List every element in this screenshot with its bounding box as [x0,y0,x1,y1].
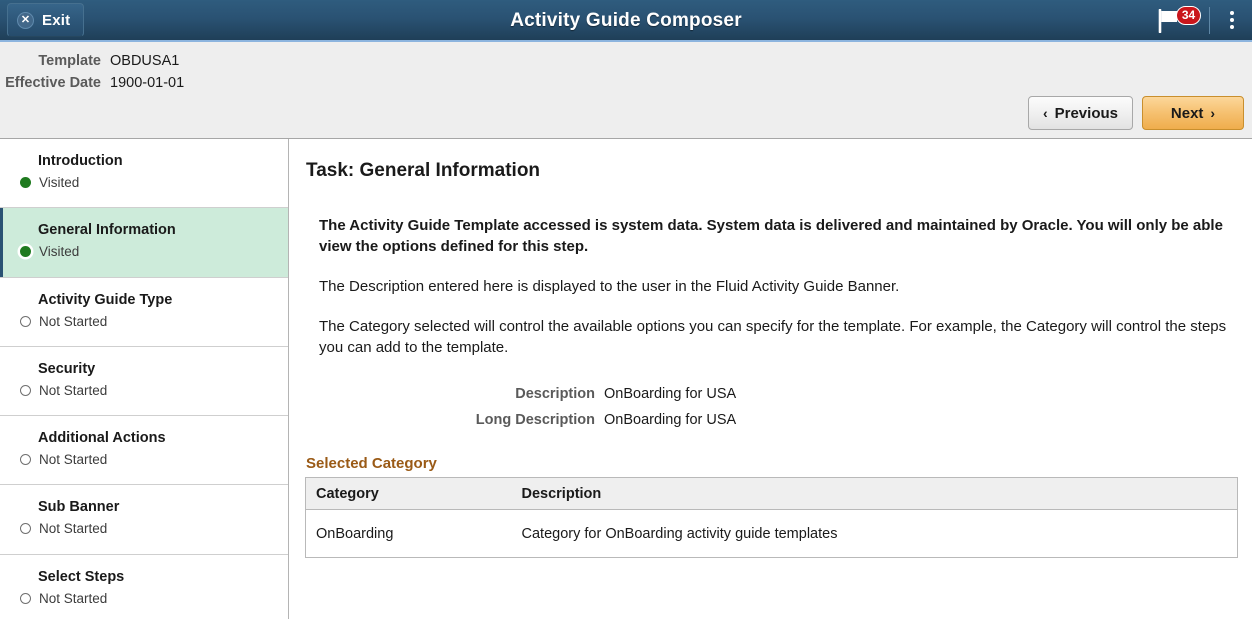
long-description-value: OnBoarding for USA [604,412,736,428]
header-actions: 34 [1155,0,1252,41]
next-button[interactable]: Next › [1142,96,1244,130]
sidebar-item-general-information[interactable]: General InformationVisited [0,208,288,277]
template-subheader: Template OBDUSA1 Effective Date 1900-01-… [0,42,1252,139]
task-heading: Task: General Information [306,160,1236,182]
description-field-row: Description OnBoarding for USA [305,386,1236,412]
close-x-icon: ✕ [17,12,34,29]
column-header-description: Description [512,478,1238,510]
description-paragraph: The Description entered here is displaye… [319,276,1229,297]
sidebar-item-status-label: Not Started [39,591,107,606]
selected-category-heading: Selected Category [306,455,1236,472]
next-button-label: Next [1171,105,1204,122]
app-header: ✕ Exit Activity Guide Composer 34 [0,0,1252,42]
main-content: Task: General Information The Activity G… [289,139,1252,619]
selected-category-table: Category Description OnBoardingCategory … [305,477,1238,558]
sidebar-item-label: General Information [38,221,278,239]
chevron-right-icon: › [1210,106,1215,120]
header-divider [1209,7,1210,34]
long-description-label: Long Description [305,412,604,428]
sidebar-item-status: Not Started [20,452,278,467]
sidebar-item-sub-banner[interactable]: Sub BannerNot Started [0,485,288,554]
notification-badge: 34 [1176,6,1201,25]
sidebar-item-label: Introduction [38,152,278,170]
sidebar-item-status-label: Not Started [39,521,107,536]
table-header-row: Category Description [306,478,1238,510]
sidebar-item-status-label: Not Started [39,452,107,467]
sidebar-item-status: Not Started [20,591,278,606]
sidebar-item-label: Additional Actions [38,429,278,447]
chevron-left-icon: ‹ [1043,106,1048,120]
status-not-started-icon [20,523,31,534]
exit-button-label: Exit [42,12,70,29]
wizard-navigation: ‹ Previous Next › [1028,96,1244,130]
step-sidebar: IntroductionVisitedGeneral InformationVi… [0,139,289,619]
template-fields: Template OBDUSA1 Effective Date 1900-01-… [0,42,1252,97]
sidebar-item-status: Visited [20,244,278,259]
status-not-started-icon [20,454,31,465]
column-header-category: Category [306,478,512,510]
kebab-menu-icon[interactable] [1221,5,1243,35]
page-title: Activity Guide Composer [0,0,1252,42]
sidebar-item-activity-guide-type[interactable]: Activity Guide TypeNot Started [0,278,288,347]
long-description-field-row: Long Description OnBoarding for USA [305,412,1236,438]
status-not-started-icon [20,385,31,396]
sidebar-item-introduction[interactable]: IntroductionVisited [0,139,288,208]
sidebar-item-status-label: Visited [39,244,79,259]
effective-date-field-row: Effective Date 1900-01-01 [0,75,1252,97]
intro-paragraph-bold: The Activity Guide Template accessed is … [319,215,1229,257]
cell-description: Category for OnBoarding activity guide t… [512,510,1238,558]
sidebar-item-status-label: Not Started [39,314,107,329]
status-visited-icon [20,177,31,188]
activity-guide-composer-page: ✕ Exit Activity Guide Composer 34 Templa… [0,0,1252,619]
description-value: OnBoarding for USA [604,386,736,402]
sidebar-item-label: Activity Guide Type [38,291,278,309]
status-not-started-icon [20,316,31,327]
sidebar-item-status: Not Started [20,383,278,398]
exit-button[interactable]: ✕ Exit [7,3,84,37]
sidebar-item-status-label: Not Started [39,383,107,398]
table-row[interactable]: OnBoardingCategory for OnBoarding activi… [306,510,1238,558]
sidebar-item-status: Not Started [20,314,278,329]
previous-button[interactable]: ‹ Previous [1028,96,1133,130]
description-fields: Description OnBoarding for USA Long Desc… [305,386,1236,438]
sidebar-item-select-steps[interactable]: Select StepsNot Started [0,555,288,619]
sidebar-item-status: Not Started [20,521,278,536]
sidebar-item-security[interactable]: SecurityNot Started [0,347,288,416]
cell-category: OnBoarding [306,510,512,558]
sidebar-item-additional-actions[interactable]: Additional ActionsNot Started [0,416,288,485]
notifications-button[interactable]: 34 [1155,5,1201,35]
template-field-row: Template OBDUSA1 [0,53,1252,75]
template-value: OBDUSA1 [110,53,179,69]
sidebar-item-label: Select Steps [38,568,278,586]
template-label: Template [0,53,110,69]
description-label: Description [305,386,604,402]
sidebar-item-status-label: Visited [39,175,79,190]
effective-date-label: Effective Date [0,75,110,91]
previous-button-label: Previous [1055,105,1118,122]
sidebar-item-label: Sub Banner [38,498,278,516]
status-visited-icon [20,246,31,257]
page-body: IntroductionVisitedGeneral InformationVi… [0,139,1252,619]
sidebar-item-label: Security [38,360,278,378]
category-paragraph: The Category selected will control the a… [319,316,1229,358]
sidebar-item-status: Visited [20,175,278,190]
effective-date-value: 1900-01-01 [110,75,184,91]
status-not-started-icon [20,593,31,604]
